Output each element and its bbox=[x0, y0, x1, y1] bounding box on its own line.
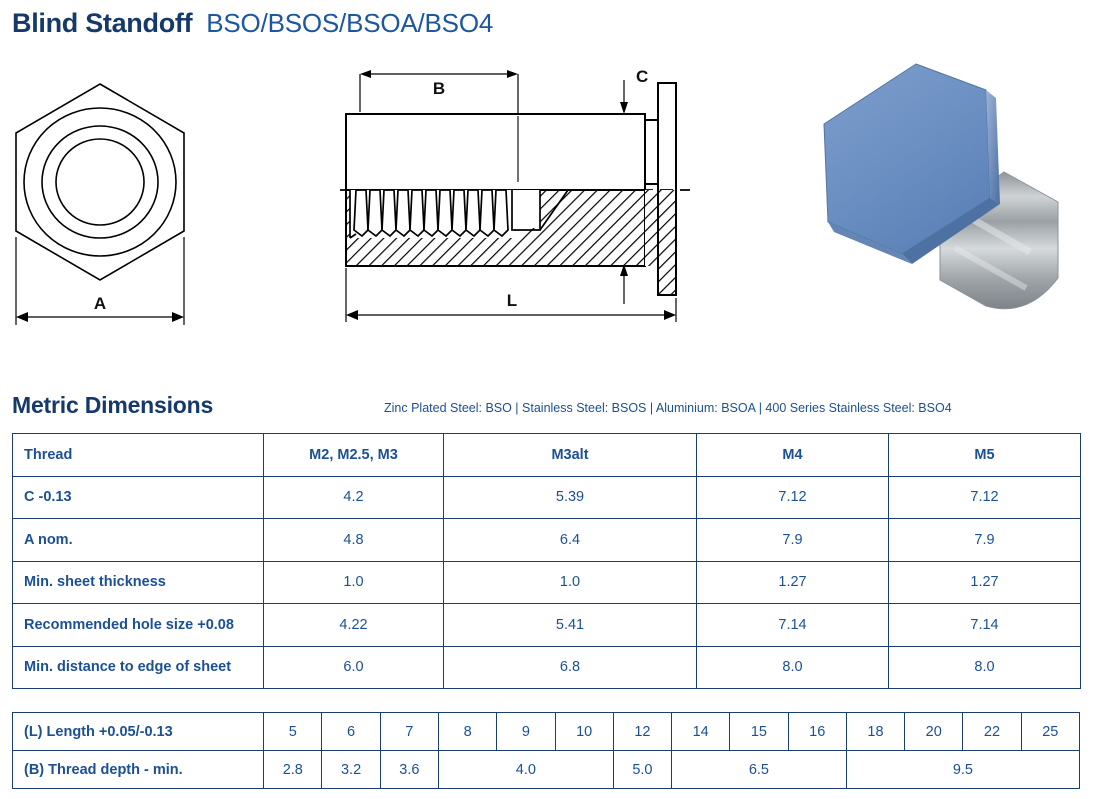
b-arrow-right bbox=[507, 70, 518, 78]
flange-plate-lower bbox=[658, 190, 676, 295]
title-main: Blind Standoff bbox=[12, 8, 192, 39]
length-cell: 16 bbox=[788, 713, 846, 751]
length-cell: 12 bbox=[613, 713, 671, 751]
depth-cell: 3.2 bbox=[322, 751, 380, 789]
cell-value: 7.12 bbox=[697, 476, 889, 519]
title-part-codes: BSO/BSOS/BSOA/BSO4 bbox=[206, 8, 493, 39]
col-head-m2: M2, M2.5, M3 bbox=[264, 434, 444, 477]
length-cell: 20 bbox=[905, 713, 963, 751]
cross-section-view: B C bbox=[340, 52, 690, 352]
row-label: A nom. bbox=[13, 519, 264, 562]
col-head-m3alt: M3alt bbox=[444, 434, 697, 477]
depth-cell: 2.8 bbox=[264, 751, 322, 789]
cell-value: 1.27 bbox=[697, 561, 889, 604]
row-label: Recommended hole size +0.08 bbox=[13, 604, 264, 647]
circle-middle bbox=[42, 126, 158, 238]
row-label: Min. sheet thickness bbox=[13, 561, 264, 604]
thread-profile bbox=[354, 190, 508, 236]
length-cell: 10 bbox=[555, 713, 613, 751]
length-row: (L) Length +0.05/-0.13 5 6 7 8 9 10 12 1… bbox=[13, 713, 1080, 751]
3d-render-blind-standoff bbox=[790, 52, 1090, 342]
flange-notch-upper bbox=[645, 120, 658, 184]
table-row: Min. sheet thickness 1.0 1.0 1.27 1.27 bbox=[13, 561, 1081, 604]
row-label-thread-depth: (B) Thread depth - min. bbox=[13, 751, 264, 789]
l-arrow-right bbox=[664, 310, 676, 320]
cell-value: 4.8 bbox=[264, 519, 444, 562]
dim-b-label: B bbox=[433, 79, 445, 98]
cell-value: 7.12 bbox=[889, 476, 1081, 519]
section-heading: Metric Dimensions bbox=[12, 392, 213, 419]
depth-cell: 4.0 bbox=[438, 751, 613, 789]
page-title: Blind Standoff BSO/BSOS/BSOA/BSO4 bbox=[12, 8, 493, 39]
arrow-left bbox=[16, 312, 28, 322]
row-label: C -0.13 bbox=[13, 476, 264, 519]
flange-notch-lower bbox=[645, 190, 658, 266]
table-row: C -0.13 4.2 5.39 7.12 7.12 bbox=[13, 476, 1081, 519]
datasheet-page: Blind Standoff BSO/BSOS/BSOA/BSO4 bbox=[0, 0, 1094, 799]
b-arrow-left bbox=[360, 70, 371, 78]
materials-legend: Zinc Plated Steel: BSO | Stainless Steel… bbox=[384, 401, 952, 415]
depth-cell: 6.5 bbox=[672, 751, 847, 789]
cell-value: 8.0 bbox=[889, 646, 1081, 689]
metric-dimensions-table: Thread M2, M2.5, M3 M3alt M4 M5 C -0.13 … bbox=[12, 433, 1081, 689]
drawings-band: A B bbox=[0, 52, 1094, 352]
cell-value: 6.0 bbox=[264, 646, 444, 689]
dim-a-label: A bbox=[94, 294, 106, 313]
cell-value: 7.14 bbox=[889, 604, 1081, 647]
table-row: Min. distance to edge of sheet 6.0 6.8 8… bbox=[13, 646, 1081, 689]
col-head-m4: M4 bbox=[697, 434, 889, 477]
dim-c-label: C bbox=[636, 67, 648, 86]
body-upper bbox=[346, 114, 645, 190]
cell-value: 5.41 bbox=[444, 604, 697, 647]
length-cell: 18 bbox=[846, 713, 904, 751]
length-cell: 25 bbox=[1021, 713, 1079, 751]
table-row: A nom. 4.8 6.4 7.9 7.9 bbox=[13, 519, 1081, 562]
length-cell: 8 bbox=[438, 713, 496, 751]
arrow-right bbox=[172, 312, 184, 322]
cell-value: 7.9 bbox=[889, 519, 1081, 562]
cell-value: 1.27 bbox=[889, 561, 1081, 604]
length-cell: 14 bbox=[672, 713, 730, 751]
length-cell: 22 bbox=[963, 713, 1021, 751]
length-thread-depth-table: (L) Length +0.05/-0.13 5 6 7 8 9 10 12 1… bbox=[12, 712, 1080, 789]
cell-value: 4.22 bbox=[264, 604, 444, 647]
depth-cell: 3.6 bbox=[380, 751, 438, 789]
l-arrow-left bbox=[346, 310, 358, 320]
col-head-thread: Thread bbox=[13, 434, 264, 477]
table-row: Recommended hole size +0.08 4.22 5.41 7.… bbox=[13, 604, 1081, 647]
length-cell: 15 bbox=[730, 713, 788, 751]
thread-depth-row: (B) Thread depth - min. 2.8 3.2 3.6 4.0 … bbox=[13, 751, 1080, 789]
circle-inner bbox=[56, 139, 144, 225]
cell-value: 8.0 bbox=[697, 646, 889, 689]
table-header-row: Thread M2, M2.5, M3 M3alt M4 M5 bbox=[13, 434, 1081, 477]
length-cell: 6 bbox=[322, 713, 380, 751]
cell-value: 7.14 bbox=[697, 604, 889, 647]
length-cell: 5 bbox=[264, 713, 322, 751]
circle-outer bbox=[24, 108, 176, 256]
row-label: Min. distance to edge of sheet bbox=[13, 646, 264, 689]
hexagon-front-view: A bbox=[0, 52, 220, 352]
depth-cell: 9.5 bbox=[846, 751, 1079, 789]
c-arrow bbox=[620, 102, 628, 114]
cell-value: 4.2 bbox=[264, 476, 444, 519]
row-label-length: (L) Length +0.05/-0.13 bbox=[13, 713, 264, 751]
col-head-m5: M5 bbox=[889, 434, 1081, 477]
cell-value: 1.0 bbox=[264, 561, 444, 604]
cell-value: 6.8 bbox=[444, 646, 697, 689]
dim-l-label: L bbox=[507, 291, 517, 310]
length-cell: 7 bbox=[380, 713, 438, 751]
cell-value: 5.39 bbox=[444, 476, 697, 519]
length-cell: 9 bbox=[497, 713, 555, 751]
depth-cell: 5.0 bbox=[613, 751, 671, 789]
cell-value: 1.0 bbox=[444, 561, 697, 604]
cell-value: 6.4 bbox=[444, 519, 697, 562]
cell-value: 7.9 bbox=[697, 519, 889, 562]
